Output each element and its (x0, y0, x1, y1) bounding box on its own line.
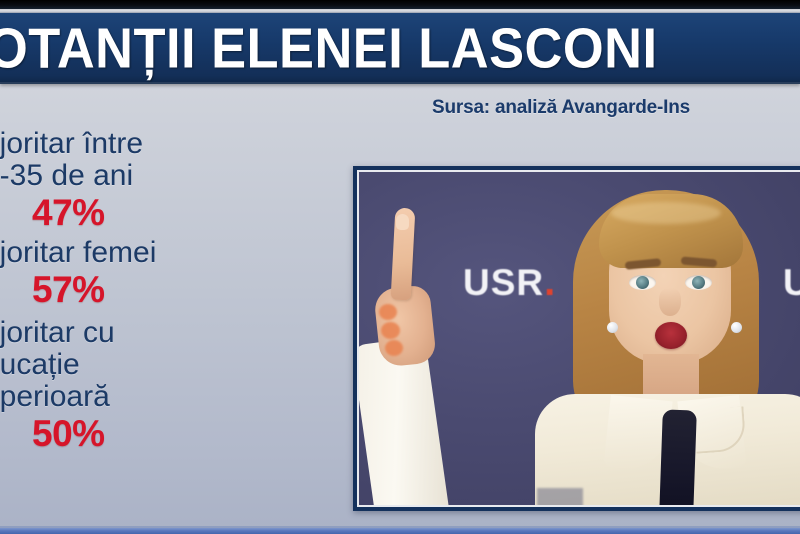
bottom-accent-bar (0, 528, 800, 534)
top-letterbox-bar (0, 0, 800, 9)
news-infographic-screen: OTANȚII ELENEI LASCONI Sursa: analiză Av… (0, 0, 800, 534)
shoulder-shadow (537, 488, 583, 505)
mouth (655, 322, 687, 349)
stat-label-gender-line1: ajoritar femei (0, 237, 300, 269)
stat-block-gender: ajoritar femei 57% (0, 237, 300, 310)
photo-frame: USR. U (353, 166, 800, 511)
person-figure (359, 172, 800, 505)
stat-label-education-line3: uperioară (0, 381, 300, 413)
stat-label-age-line1: ajoritar între (0, 128, 300, 160)
knuckle-middle (381, 322, 400, 339)
neck-scarf (659, 409, 697, 505)
iris-left (636, 276, 649, 289)
stat-label-age-line2: 8-35 de ani (0, 160, 300, 192)
knuckle-upper (379, 304, 397, 320)
photo-image: USR. U (359, 172, 800, 505)
nose (659, 288, 681, 316)
earring-right (731, 322, 742, 333)
stat-value-education: 50% (0, 414, 300, 455)
hair-highlight (611, 202, 721, 224)
stat-value-age: 47% (0, 193, 300, 234)
iris-right (692, 276, 705, 289)
fingernail (396, 214, 409, 230)
statistics-column: ajoritar între 8-35 de ani 47% ajoritar … (0, 128, 300, 454)
page-title-text: OTANȚII ELENEI LASCONI (0, 20, 657, 77)
source-attribution: Sursa: analiză Avangarde-Ins (432, 97, 690, 119)
headline-banner: OTANȚII ELENEI LASCONI (0, 13, 800, 84)
stat-label-education-line1: ajoritar cu (0, 317, 300, 349)
stat-block-education: ajoritar cu ducație uperioară 50% (0, 317, 300, 455)
page-title: OTANȚII ELENEI LASCONI (0, 20, 716, 77)
stat-block-age: ajoritar între 8-35 de ani 47% (0, 128, 300, 233)
knuckle-lower (385, 340, 403, 356)
stat-label-education-line2: ducație (0, 349, 300, 381)
earring-left (607, 322, 618, 333)
stat-value-gender: 57% (0, 270, 300, 311)
